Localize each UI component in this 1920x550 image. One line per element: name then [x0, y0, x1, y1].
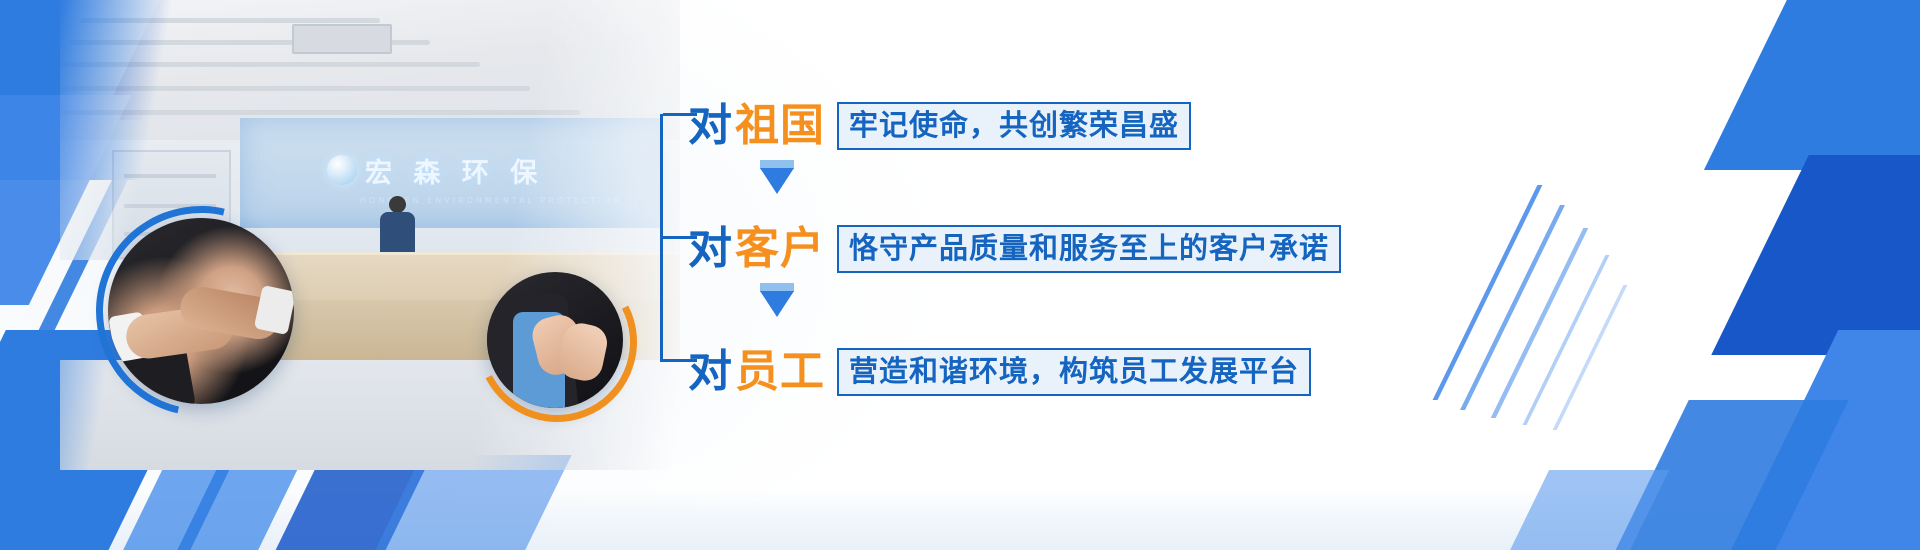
commitment-row: 对祖国 牢记使命，共创繁荣昌盛	[688, 97, 1191, 155]
commitment-label: 对祖国	[688, 104, 825, 148]
commitment-prefix: 对	[688, 227, 733, 271]
commitment-keyword: 客户	[735, 227, 825, 271]
commitment-phrase: 恪守产品质量和服务至上的客户承诺	[837, 225, 1341, 273]
company-sign-text: 宏 森 环 保	[365, 151, 543, 190]
commitment-label: 对客户	[688, 227, 825, 271]
ceiling-vent	[292, 24, 392, 54]
ceiling-slat	[60, 110, 580, 115]
commitment-keyword: 祖国	[735, 104, 825, 148]
receptionist	[378, 196, 416, 258]
commitments-list: 对祖国 牢记使命，共创繁荣昌盛 对客户 恪守产品质量和服务至上的客户承诺 对员工…	[660, 72, 1360, 402]
ceiling-slat	[60, 62, 480, 67]
commitment-row: 对员工 营造和谐环境，构筑员工发展平台	[688, 343, 1311, 401]
commitment-phrase: 营造和谐环境，构筑员工发展平台	[837, 348, 1311, 396]
company-values-banner: 宏 森 环 保 HONGSEN ENVIRONMENTAL PROTECTION	[0, 0, 1920, 550]
ceiling-slat	[80, 18, 380, 23]
triangle-down-icon-2	[760, 291, 794, 317]
shelf	[124, 174, 216, 178]
triangle-down-icon-1	[760, 168, 794, 194]
commitment-row: 对客户 恪守产品质量和服务至上的客户承诺	[688, 220, 1341, 278]
commitment-prefix: 对	[688, 104, 733, 148]
ceiling-slat	[60, 86, 530, 91]
receptionist-head	[389, 196, 406, 213]
globe-logo-icon	[327, 155, 357, 185]
commitment-label: 对员工	[688, 350, 825, 394]
commitment-prefix: 对	[688, 350, 733, 394]
commitment-keyword: 员工	[735, 350, 825, 394]
commitment-phrase: 牢记使命，共创繁荣昌盛	[837, 102, 1191, 150]
